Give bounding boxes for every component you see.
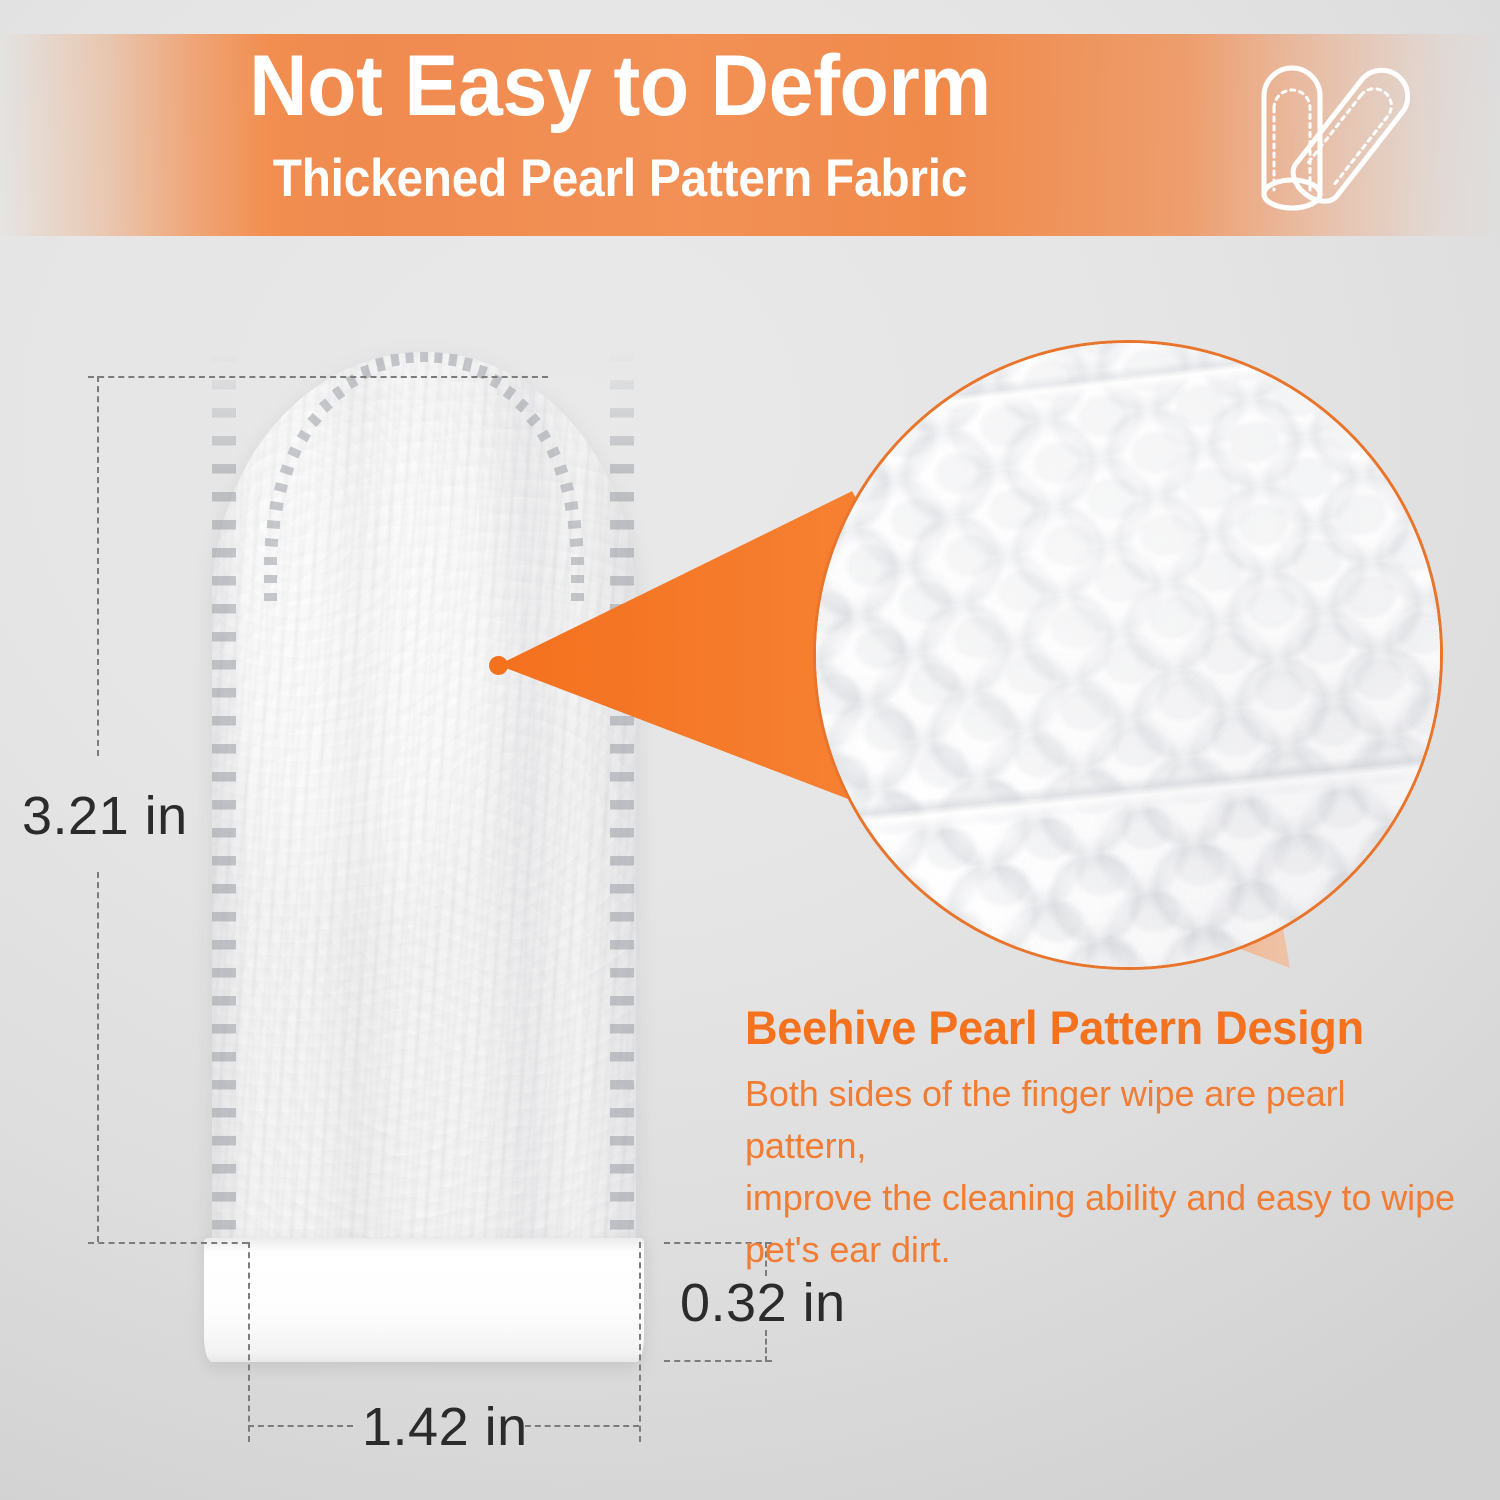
feature-description-line: pet's ear dirt. [745,1224,1465,1276]
feature-description-line: Both sides of the finger wipe are pearl … [745,1068,1465,1172]
feature-heading: Beehive Pearl Pattern Design [745,1000,1364,1055]
glove-cuff-band [204,1238,644,1362]
feature-description: Both sides of the finger wipe are pearl … [745,1068,1465,1276]
zoom-detail-circle [813,340,1443,970]
height-tick-bottom [88,1242,248,1244]
magnifier-inner-shading [816,343,1440,967]
thickness-dimension-line-lower [765,1330,767,1362]
thickness-tick-bottom [664,1360,772,1362]
width-dimension-line-left [248,1425,353,1427]
width-tick-left [248,1242,250,1442]
stitched-edge-top-arc [212,352,636,602]
height-dimension-line-upper [97,376,99,756]
height-tick-top [88,376,548,378]
product-image-finger-wipe [204,352,644,1364]
infographic-canvas: Not Easy to Deform Thickened Pearl Patte… [0,0,1500,1500]
page-subtitle: Thickened Pearl Pattern Fabric [62,152,1178,205]
width-dimension-label: 1.42 in [362,1396,528,1458]
feature-description-line: improve the cleaning ability and easy to… [745,1172,1465,1224]
width-dimension-line-right [525,1425,639,1427]
thickness-dimension-label: 0.32 in [680,1272,846,1334]
height-dimension-line-lower [97,872,99,1242]
finger-wipe-pair-icon [1242,62,1410,222]
width-tick-right [639,1242,641,1442]
height-dimension-label: 3.21 in [22,785,188,847]
page-title: Not Easy to Deform [37,43,1203,129]
callout-anchor-dot [489,656,508,675]
